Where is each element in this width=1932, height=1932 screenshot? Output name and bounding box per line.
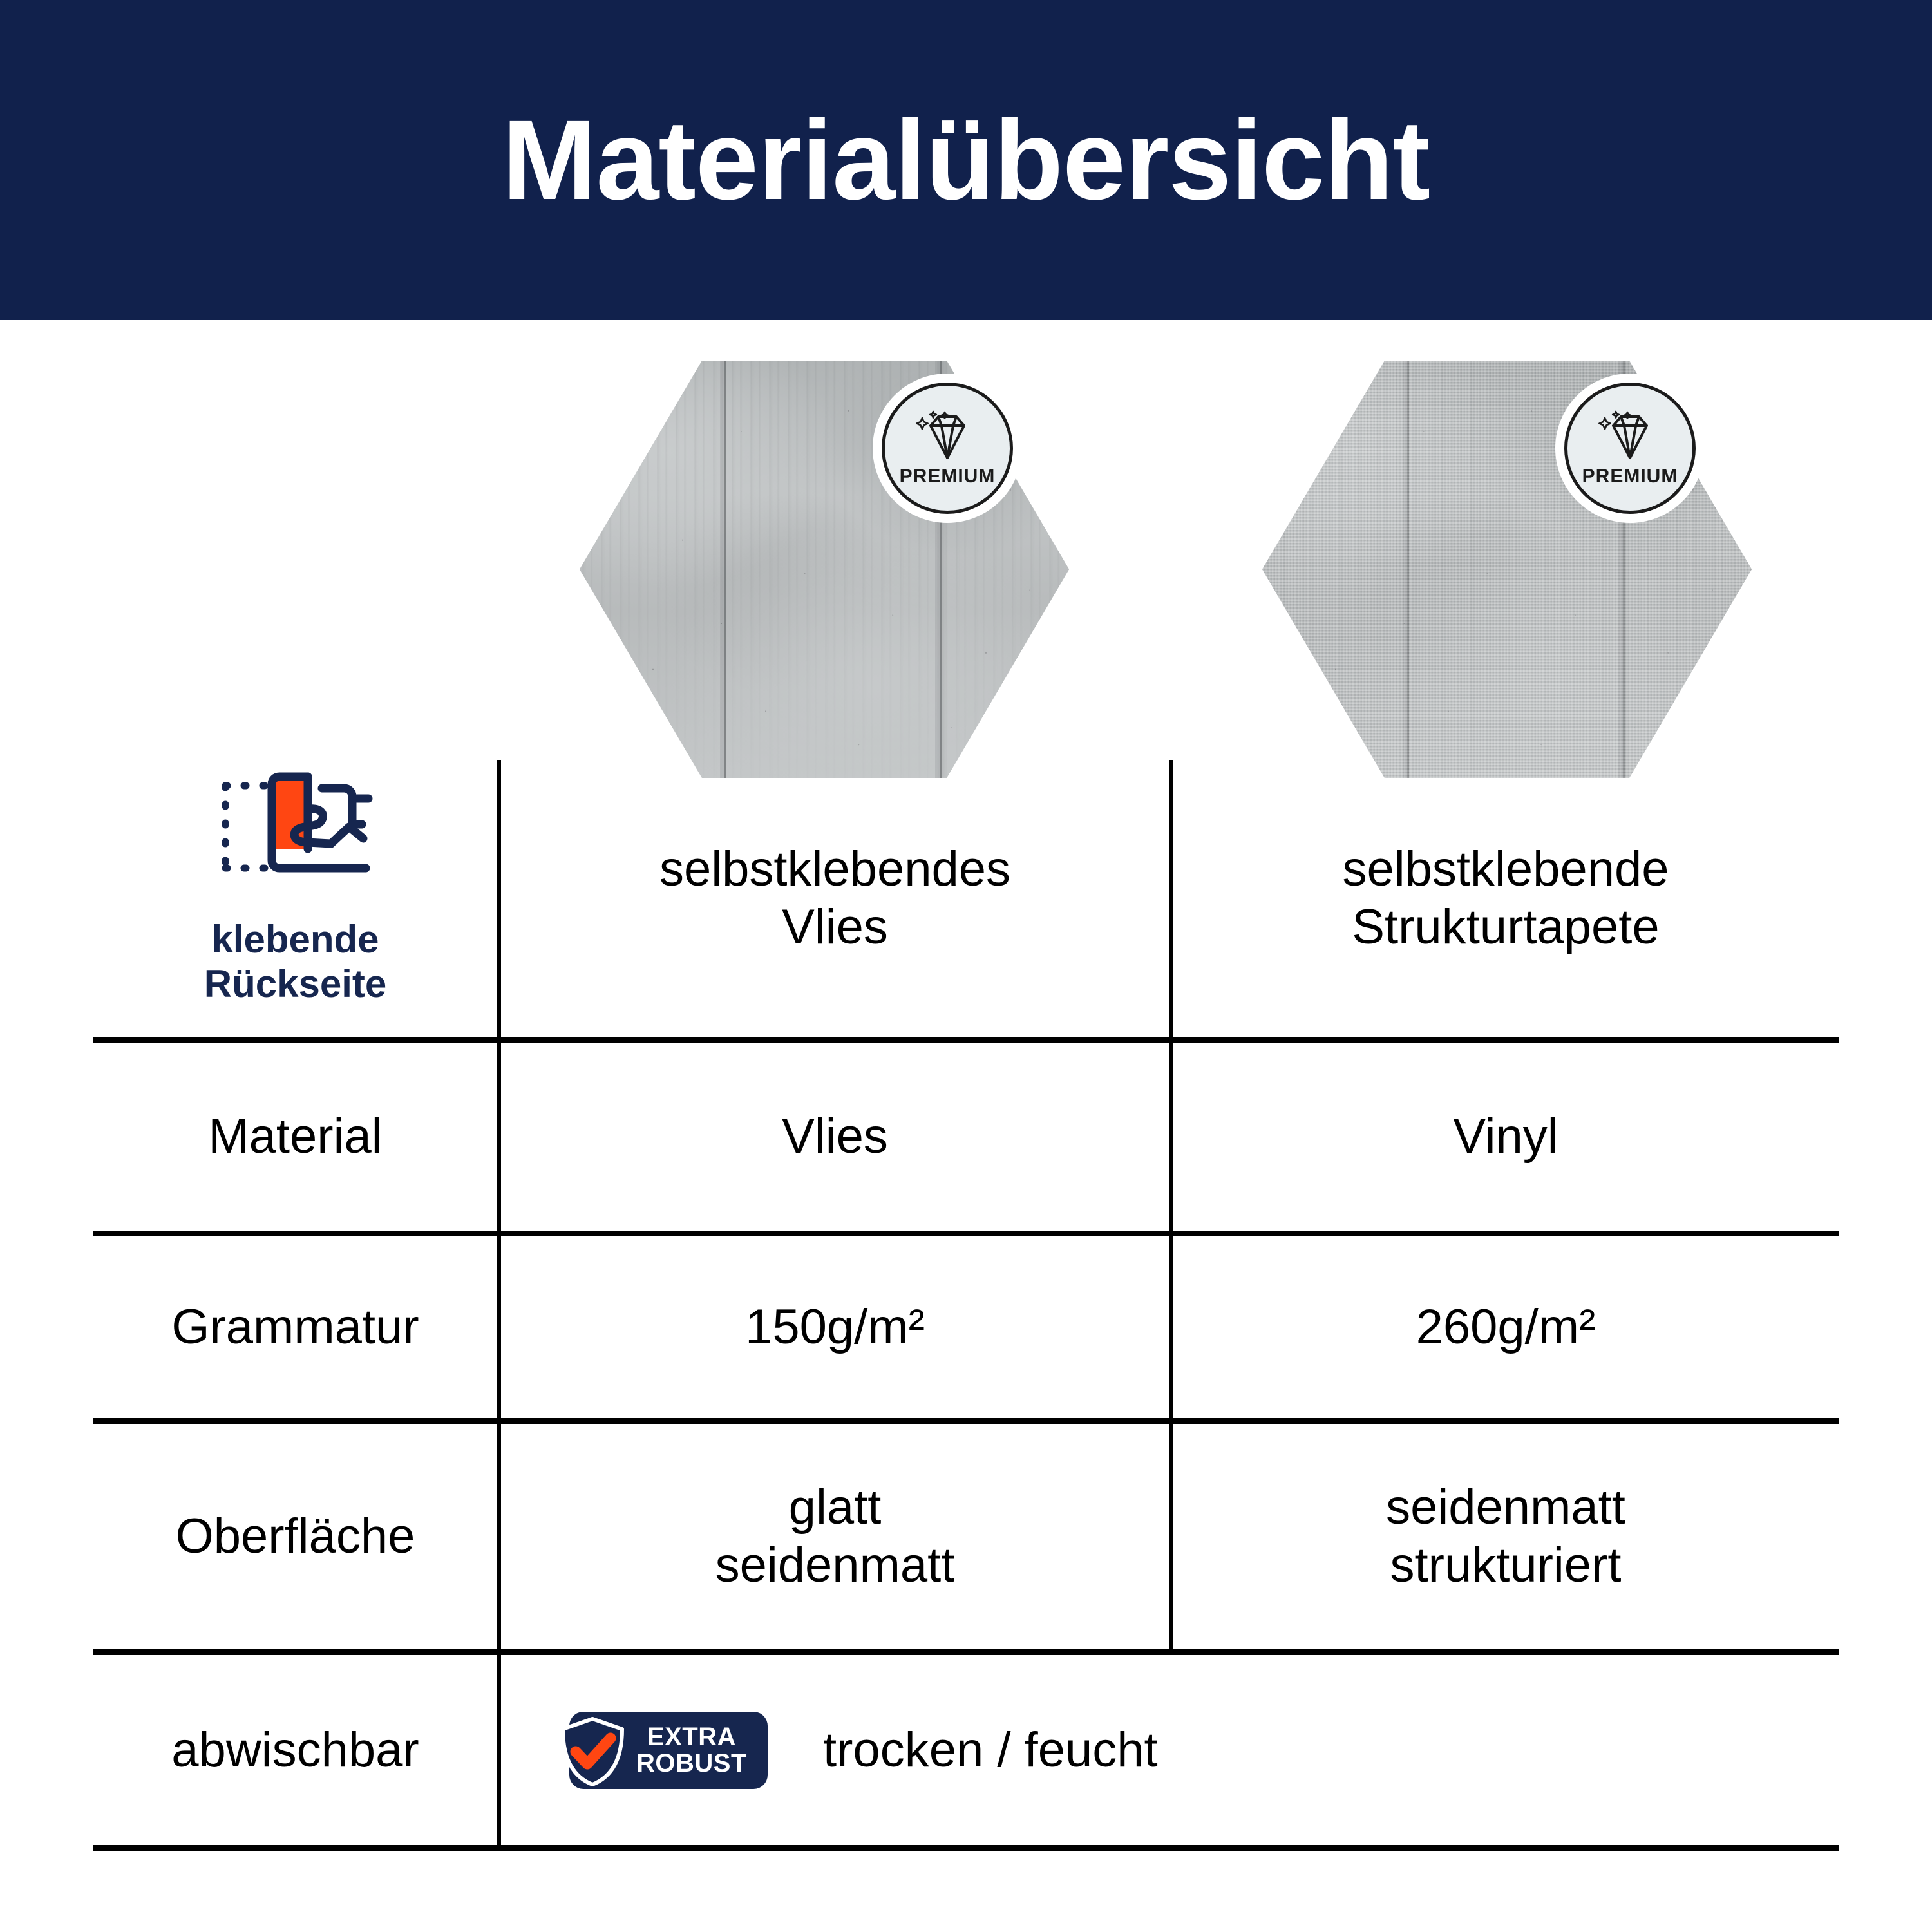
premium-badge-inner: PREMIUM — [882, 383, 1013, 514]
table-bottom-border-cell — [499, 1848, 1839, 1851]
abwischbar-value-text: trocken / feucht — [823, 1721, 1158, 1779]
table-row-product-names: klebende Rückseite selbstklebendes Vlies… — [93, 760, 1839, 1040]
cell-oberflaeche-strukturtapete: seidenmatt strukturiert — [1171, 1421, 1839, 1653]
column-header-vlies: selbstklebendes Vlies — [499, 760, 1171, 1040]
cell-oberflaeche-vlies: glatt seidenmatt — [499, 1421, 1171, 1653]
cell-oberflaeche-strukturtapete-line1: seidenmatt — [1173, 1479, 1839, 1537]
cell-grammatur-vlies: 150g/m² — [499, 1234, 1171, 1421]
premium-badge-inner: PREMIUM — [1564, 383, 1696, 514]
premium-badge-label: PREMIUM — [1582, 467, 1678, 486]
shield-check-icon — [558, 1716, 627, 1788]
premium-badge: PREMIUM — [1555, 374, 1705, 523]
column-header-strukturtapete-line2: Strukturtapete — [1173, 898, 1839, 956]
cell-abwischbar-value: EXTRA ROBUST trocken / feucht — [499, 1653, 1839, 1848]
row-label-material: Material — [93, 1040, 499, 1234]
table-row-oberflaeche: Oberfläche glatt seidenmatt seidenmatt s… — [93, 1421, 1839, 1653]
cell-oberflaeche-vlies-line1: glatt — [501, 1479, 1169, 1537]
diamond-icon — [914, 410, 981, 463]
row-label-grammatur: Grammatur — [93, 1234, 499, 1421]
row-label-oberflaeche: Oberfläche — [93, 1421, 499, 1653]
table-row-grammatur: Grammatur 150g/m² 260g/m² — [93, 1234, 1839, 1421]
table-bottom-border — [93, 1848, 1839, 1851]
cell-material-vlies: Vlies — [499, 1040, 1171, 1234]
column-header-vlies-line1: selbstklebendes — [501, 840, 1169, 898]
page-title: Materialübersicht — [502, 104, 1430, 217]
cell-oberflaeche-vlies-line2: seidenmatt — [501, 1537, 1169, 1595]
column-header-vlies-line2: Vlies — [501, 898, 1169, 956]
premium-badge-label: PREMIUM — [900, 467, 996, 486]
adhesive-label-line1: klebende — [204, 917, 386, 962]
row-label-abwischbar: abwischbar — [93, 1653, 499, 1848]
extra-robust-line2: ROBUST — [636, 1750, 747, 1777]
extra-robust-line1: EXTRA — [636, 1724, 747, 1750]
table-bottom-border-cell — [93, 1848, 499, 1851]
cell-grammatur-strukturtapete: 260g/m² — [1171, 1234, 1839, 1421]
table-row-abwischbar: abwischbar EXTRA ROBUST — [93, 1653, 1839, 1848]
cell-oberflaeche-strukturtapete-line2: strukturiert — [1173, 1537, 1839, 1595]
adhesive-backing-cell: klebende Rückseite — [93, 760, 499, 1040]
peeling-sticker-hand-icon — [211, 762, 380, 911]
page-header: Materialübersicht — [0, 0, 1932, 320]
cell-material-strukturtapete: Vinyl — [1171, 1040, 1839, 1234]
adhesive-label-line2: Rückseite — [204, 961, 386, 1007]
extra-robust-badge: EXTRA ROBUST — [569, 1712, 768, 1789]
column-header-strukturtapete: selbstklebende Strukturtapete — [1171, 760, 1839, 1040]
column-header-strukturtapete-line1: selbstklebende — [1173, 840, 1839, 898]
table-row-material: Material Vlies Vinyl — [93, 1040, 1839, 1234]
diamond-icon — [1596, 410, 1663, 463]
premium-badge: PREMIUM — [873, 374, 1022, 523]
material-specification-table: klebende Rückseite selbstklebendes Vlies… — [93, 760, 1839, 1851]
